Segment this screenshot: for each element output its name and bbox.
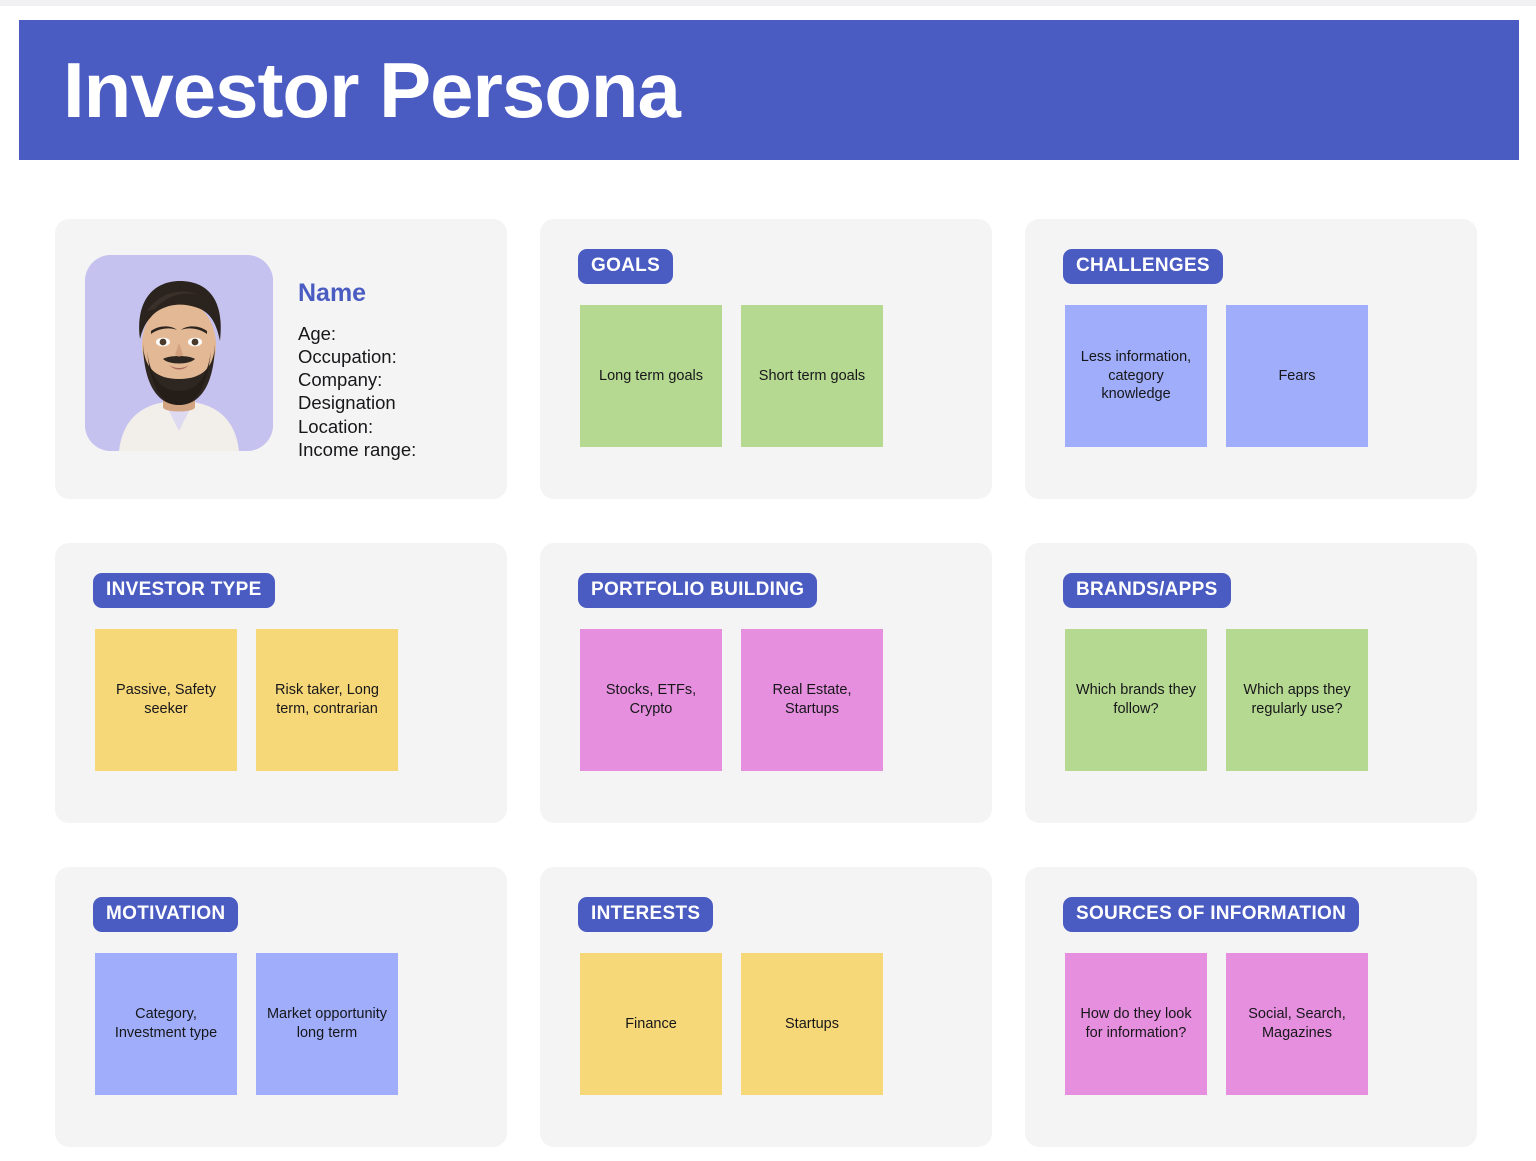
section-card-challenges: CHALLENGES Less information, category kn… [1025,219,1477,499]
top-strip [0,0,1536,6]
persona-details: Name Age: Occupation: Company: Designati… [298,255,416,461]
persona-field-list: Age: Occupation: Company: Designation Lo… [298,322,416,461]
section-card-brands-apps: BRANDS/APPS Which brands they follow? Wh… [1025,543,1477,823]
sticky-note[interactable]: Less information, category knowledge [1065,305,1207,447]
sticky-note-group: How do they look for information? Social… [1065,953,1477,1095]
page-title: Investor Persona [63,51,680,129]
sticky-note-group: Category, Investment type Market opportu… [95,953,507,1095]
section-card-motivation: MOTIVATION Category, Investment type Mar… [55,867,507,1147]
persona-field: Income range: [298,438,416,461]
sticky-note-group: Long term goals Short term goals [580,305,992,447]
section-label-motivation: MOTIVATION [93,897,238,932]
sticky-note[interactable]: Short term goals [741,305,883,447]
sticky-note-group: Less information, category knowledge Fea… [1065,305,1477,447]
sticky-note[interactable]: Which apps they regularly use? [1226,629,1368,771]
sticky-note-group: Stocks, ETFs, Crypto Real Estate, Startu… [580,629,992,771]
sticky-note[interactable]: Startups [741,953,883,1095]
section-card-investor-type: INVESTOR TYPE Passive, Safety seeker Ris… [55,543,507,823]
persona-field: Occupation: [298,345,416,368]
persona-profile-card: Name Age: Occupation: Company: Designati… [55,219,507,499]
section-label-investor-type: INVESTOR TYPE [93,573,275,608]
sticky-note[interactable]: Finance [580,953,722,1095]
section-label-sources-of-information: SOURCES OF INFORMATION [1063,897,1359,932]
persona-field: Location: [298,415,416,438]
section-label-challenges: CHALLENGES [1063,249,1223,284]
section-card-sources-of-information: SOURCES OF INFORMATION How do they look … [1025,867,1477,1147]
section-card-goals: GOALS Long term goals Short term goals [540,219,992,499]
sticky-note[interactable]: Risk taker, Long term, contrarian [256,629,398,771]
page-header-banner: Investor Persona [19,20,1519,160]
avatar [85,255,273,451]
section-label-brands-apps: BRANDS/APPS [1063,573,1231,608]
persona-field: Age: [298,322,416,345]
sticky-note[interactable]: Passive, Safety seeker [95,629,237,771]
section-card-interests: INTERESTS Finance Startups [540,867,992,1147]
section-label-portfolio-building: PORTFOLIO BUILDING [578,573,817,608]
sticky-note-group: Finance Startups [580,953,992,1095]
sticky-note-group: Passive, Safety seeker Risk taker, Long … [95,629,507,771]
sticky-note[interactable]: Long term goals [580,305,722,447]
persona-field: Company: [298,368,416,391]
person-photo-avatar-icon [85,255,273,451]
persona-field: Designation [298,391,416,414]
sticky-note[interactable]: Fears [1226,305,1368,447]
sticky-note[interactable]: Category, Investment type [95,953,237,1095]
sticky-note[interactable]: Market opportunity long term [256,953,398,1095]
sticky-note[interactable]: Stocks, ETFs, Crypto [580,629,722,771]
sticky-note[interactable]: How do they look for information? [1065,953,1207,1095]
sticky-note[interactable]: Which brands they follow? [1065,629,1207,771]
sticky-note[interactable]: Real Estate, Startups [741,629,883,771]
section-label-interests: INTERESTS [578,897,713,932]
sticky-note[interactable]: Social, Search, Magazines [1226,953,1368,1095]
persona-sections-grid: Name Age: Occupation: Company: Designati… [55,219,1487,1147]
section-label-goals: GOALS [578,249,673,284]
section-card-portfolio-building: PORTFOLIO BUILDING Stocks, ETFs, Crypto … [540,543,992,823]
persona-name: Name [298,279,416,308]
investor-persona-page: Investor Persona [0,0,1536,1161]
sticky-note-group: Which brands they follow? Which apps the… [1065,629,1477,771]
